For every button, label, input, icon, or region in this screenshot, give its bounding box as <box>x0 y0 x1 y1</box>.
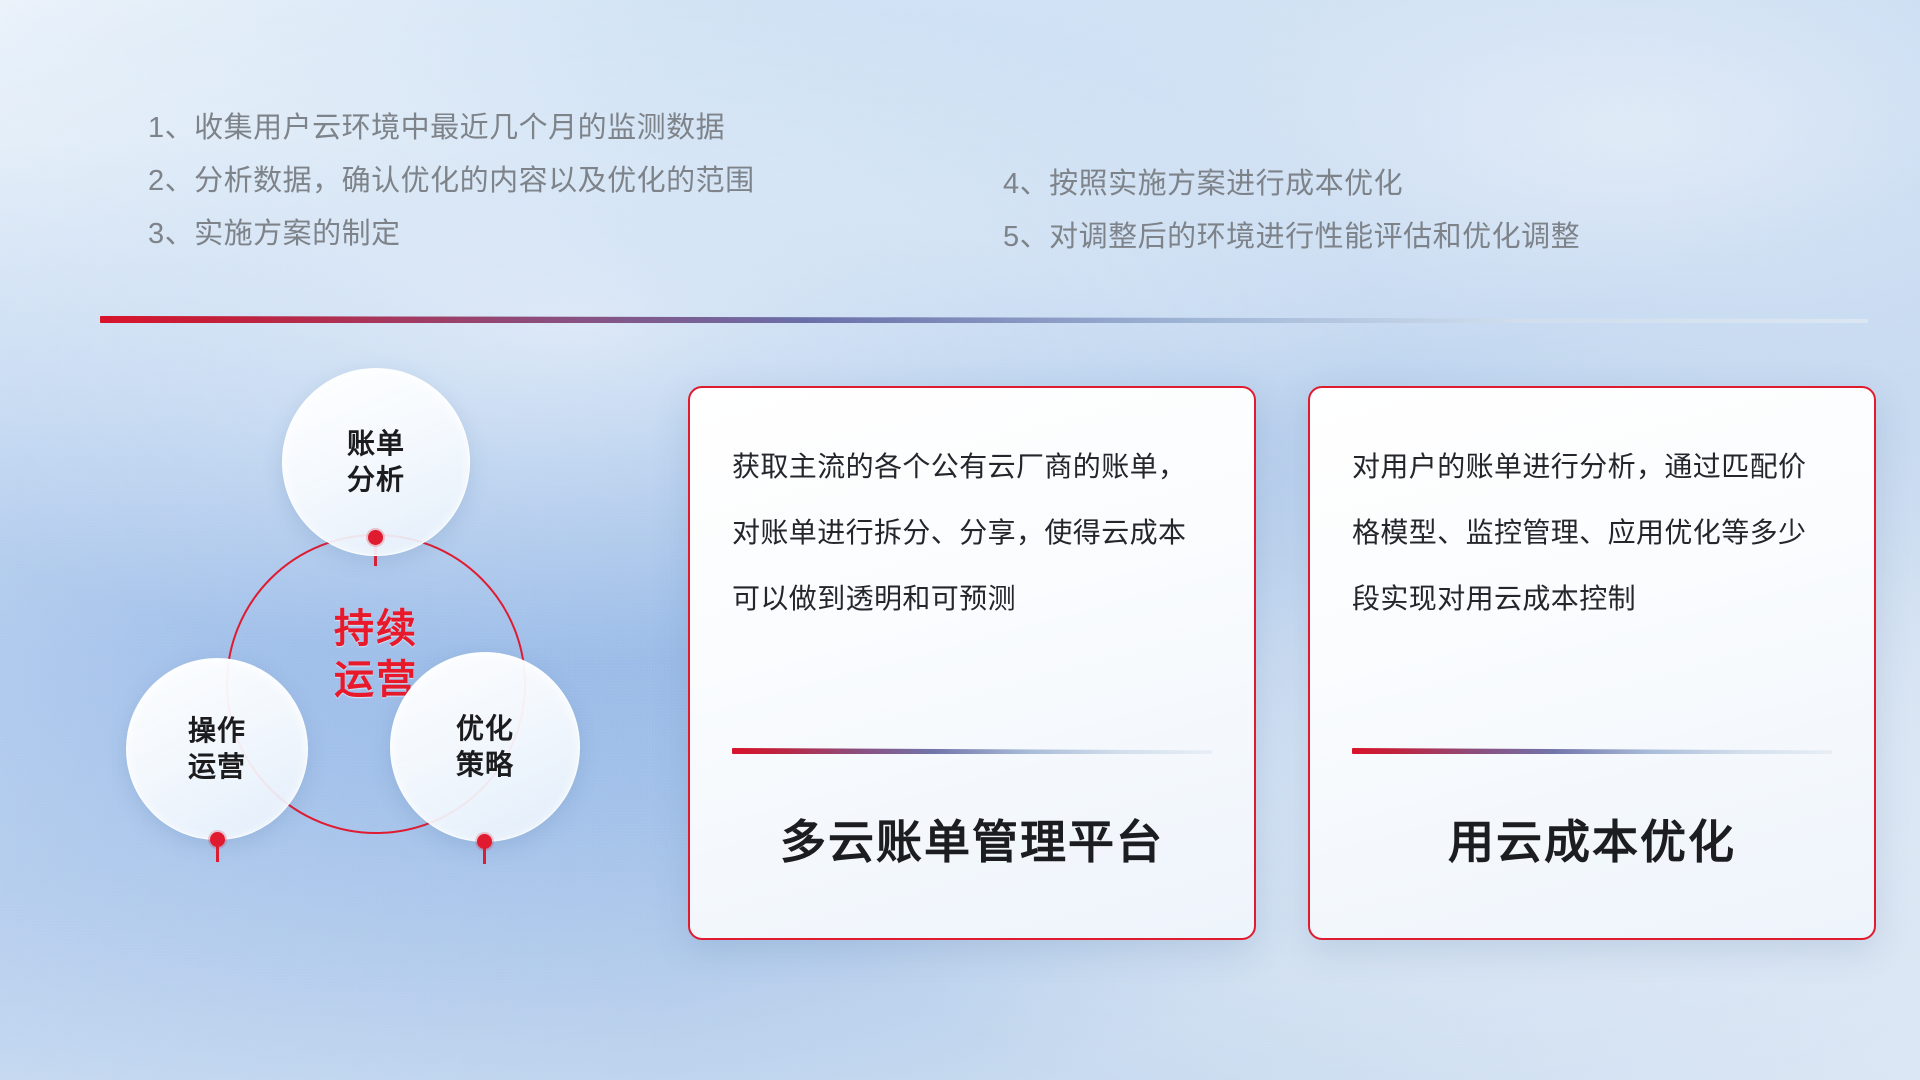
card-title: 用云成本优化 <box>1352 806 1832 872</box>
node-label-line2: 运营 <box>188 749 246 785</box>
node-label-line2: 分析 <box>347 462 405 498</box>
feature-card-multi-cloud-billing[interactable]: 获取主流的各个公有云厂商的账单，对账单进行拆分、分享，使得云成本可以做到透明和可… <box>688 386 1256 940</box>
node-label-line1: 账单 <box>347 426 405 462</box>
diagram-node-operations[interactable]: 操作 运营 <box>126 658 308 840</box>
diagram-node-billing-analysis[interactable]: 账单 分析 <box>282 368 470 556</box>
bullet-item: 5、对调整后的环境进行性能评估和优化调整 <box>1003 211 1580 264</box>
card-body-text: 获取主流的各个公有云厂商的账单，对账单进行拆分、分享，使得云成本可以做到透明和可… <box>732 434 1212 722</box>
connector-dot-top <box>368 530 383 545</box>
card-divider <box>732 748 1212 754</box>
bullet-item: 3、实施方案的制定 <box>148 208 755 261</box>
connector-dot-left <box>210 832 225 847</box>
bullet-list-right: 4、按照实施方案进行成本优化 5、对调整后的环境进行性能评估和优化调整 <box>1003 158 1580 264</box>
node-label-line1: 优化 <box>456 711 514 747</box>
node-label-line2: 策略 <box>456 747 514 783</box>
connector-dot-right <box>477 834 492 849</box>
bullet-list-left: 1、收集用户云环境中最近几个月的监测数据 2、分析数据，确认优化的内容以及优化的… <box>148 102 755 261</box>
card-title: 多云账单管理平台 <box>732 806 1212 872</box>
cycle-diagram: 持续 运营 账单 分析 操作 运营 优化 策略 <box>96 352 656 952</box>
bullet-item: 2、分析数据，确认优化的内容以及优化的范围 <box>148 155 755 208</box>
center-label-line1: 持续 <box>226 604 526 655</box>
bullet-item: 1、收集用户云环境中最近几个月的监测数据 <box>148 102 755 155</box>
node-label-line1: 操作 <box>188 713 246 749</box>
bullet-item: 4、按照实施方案进行成本优化 <box>1003 158 1580 211</box>
card-divider <box>1352 748 1832 754</box>
diagram-node-optimization-strategy[interactable]: 优化 策略 <box>390 652 580 842</box>
card-body-text: 对用户的账单进行分析，通过匹配价格模型、监控管理、应用优化等多少段实现对用云成本… <box>1352 434 1832 722</box>
feature-card-cloud-cost-optimization[interactable]: 对用户的账单进行分析，通过匹配价格模型、监控管理、应用优化等多少段实现对用云成本… <box>1308 386 1876 940</box>
